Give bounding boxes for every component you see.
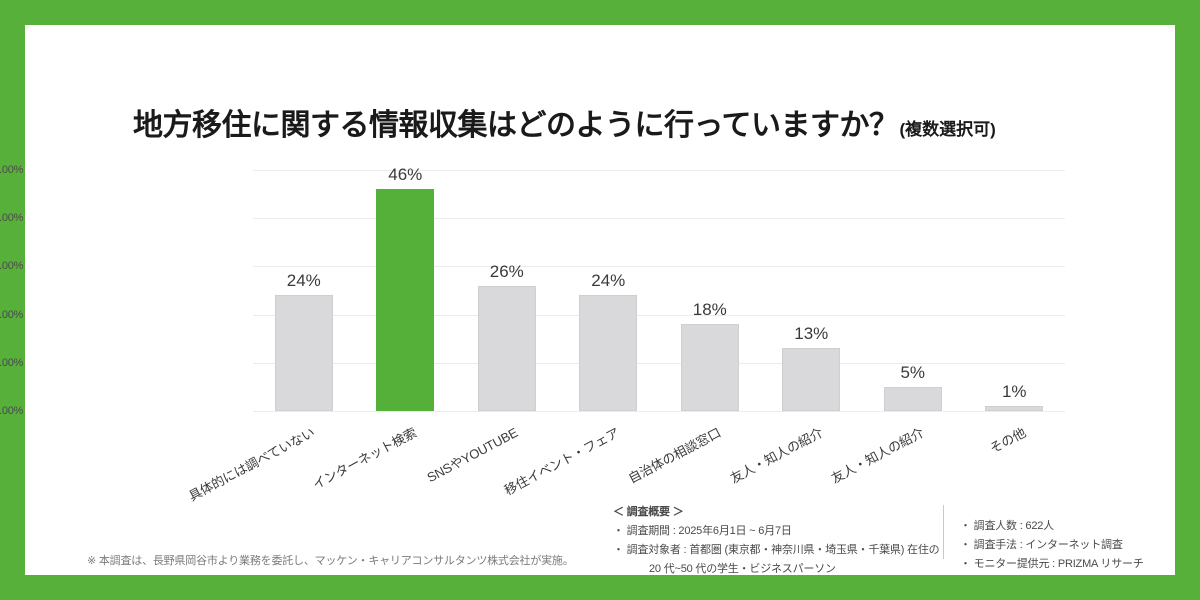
bar-value-label: 18%	[693, 300, 727, 320]
category-slot: その他	[964, 411, 1066, 511]
bar-value-label: 5%	[900, 363, 925, 383]
bar-value-label: 1%	[1002, 382, 1027, 402]
bar[interactable]: 24%	[579, 295, 637, 411]
bar-chart: 50.00%40.00%30.00%20.00%10.00%0.00% 24%4…	[25, 25, 1175, 575]
x-axis-category-label: その他	[986, 422, 1029, 457]
bar-slot: 1%	[964, 170, 1066, 411]
bar-slot: 18%	[659, 170, 761, 411]
x-axis-labels: 具体的には調べていないインターネット検索SNSやYOUTUBE移住イベント・フェ…	[253, 411, 1065, 511]
chart-card: 地方移住に関する情報収集はどのように行っていますか？ (複数選択可) 50.00…	[25, 25, 1175, 575]
bar-value-label: 46%	[388, 165, 422, 185]
bar-value-label: 24%	[591, 271, 625, 291]
survey-target: ・ 調査対象者 : 首都圏 (東京都・神奈川県・埼玉県・千葉県) 在住の	[613, 541, 943, 557]
category-slot: 友人・知人の紹介	[862, 411, 964, 511]
survey-sample-size: ・ 調査人数 : 622人	[960, 517, 1144, 533]
survey-target-continued: 20 代~50 代の学生・ビジネスパーソン	[613, 560, 943, 576]
bar[interactable]: 18%	[681, 324, 739, 411]
y-axis-tick-label: 40.00%	[0, 212, 23, 224]
y-axis-tick-label: 20.00%	[0, 309, 23, 321]
y-axis-tick-label: 10.00%	[0, 357, 23, 369]
x-axis-category-label: 具体的には調べていない	[185, 422, 318, 505]
bar-value-label: 24%	[287, 271, 321, 291]
bar[interactable]: 13%	[782, 348, 840, 411]
survey-heading: ＜ 調査概要 ＞	[613, 503, 943, 519]
survey-right-column: ・ 調査人数 : 622人 ・ 調査手法 : インターネット調査 ・ モニター提…	[960, 503, 1144, 574]
y-axis-tick-label: 0.00%	[0, 405, 23, 417]
bar[interactable]: 5%	[884, 387, 942, 411]
bar-slot: 46%	[355, 170, 457, 411]
bar-value-label: 13%	[794, 324, 828, 344]
survey-monitor-source: ・ モニター提供元 : PRIZMA リサーチ	[960, 555, 1144, 571]
bar[interactable]: 26%	[478, 286, 536, 411]
bar[interactable]: 46%	[376, 189, 434, 411]
bar-value-label: 26%	[490, 262, 524, 282]
y-axis-tick-label: 30.00%	[0, 260, 23, 272]
bar-series: 24%46%26%24%18%13%5%1%	[253, 170, 1065, 411]
survey-left-column: ＜ 調査概要 ＞ ・ 調査期間 : 2025年6月1日 ~ 6月7日 ・ 調査対…	[613, 503, 943, 576]
bar[interactable]: 24%	[275, 295, 333, 411]
survey-summary: ＜ 調査概要 ＞ ・ 調査期間 : 2025年6月1日 ~ 6月7日 ・ 調査対…	[613, 503, 1144, 576]
footnote: ※ 本調査は、長野県岡谷市より業務を委託し、マッケン・キャリアコンサルタンツ株式…	[87, 552, 574, 568]
y-axis-tick-label: 50.00%	[0, 164, 23, 176]
bar-slot: 24%	[253, 170, 355, 411]
bar-slot: 5%	[862, 170, 964, 411]
survey-divider	[943, 505, 944, 559]
survey-period: ・ 調査期間 : 2025年6月1日 ~ 6月7日	[613, 522, 943, 538]
bar-slot: 24%	[558, 170, 660, 411]
survey-method: ・ 調査手法 : インターネット調査	[960, 536, 1144, 552]
bar-slot: 26%	[456, 170, 558, 411]
bar-slot: 13%	[761, 170, 863, 411]
